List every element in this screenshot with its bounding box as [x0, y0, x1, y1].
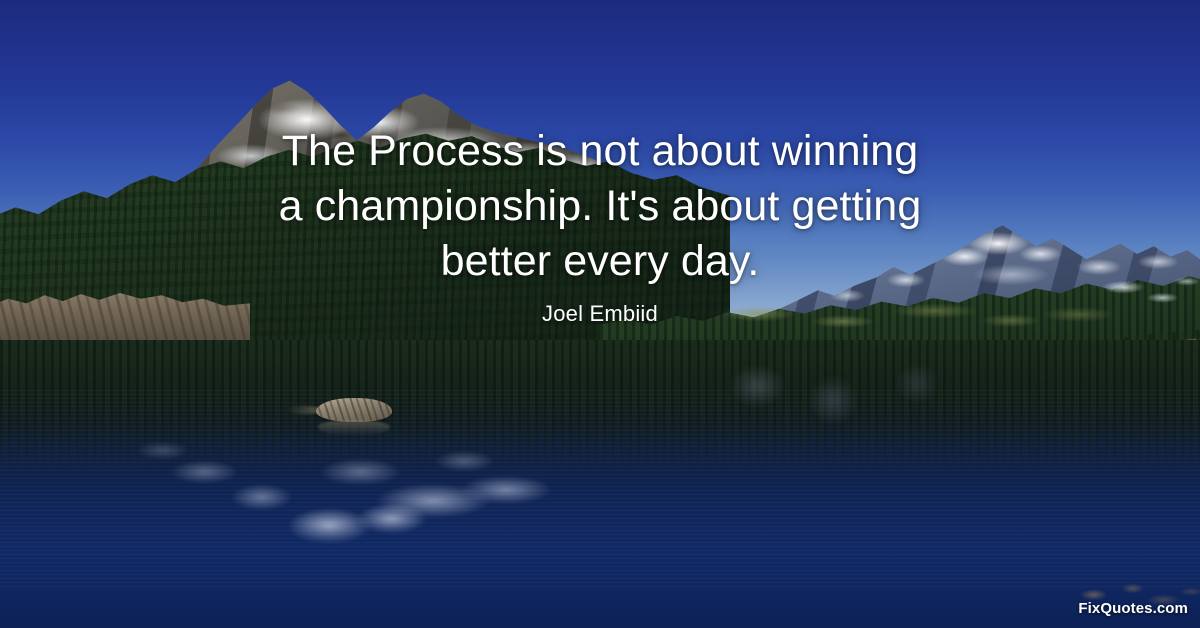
- quote-text: The Process is not about winning a champ…: [0, 124, 1200, 289]
- quote-author: Joel Embiid: [0, 301, 1200, 327]
- text-overlay: The Process is not about winning a champ…: [0, 0, 1200, 628]
- site-watermark: FixQuotes.com: [1078, 600, 1188, 617]
- quote-card: The Process is not about winning a champ…: [0, 0, 1200, 628]
